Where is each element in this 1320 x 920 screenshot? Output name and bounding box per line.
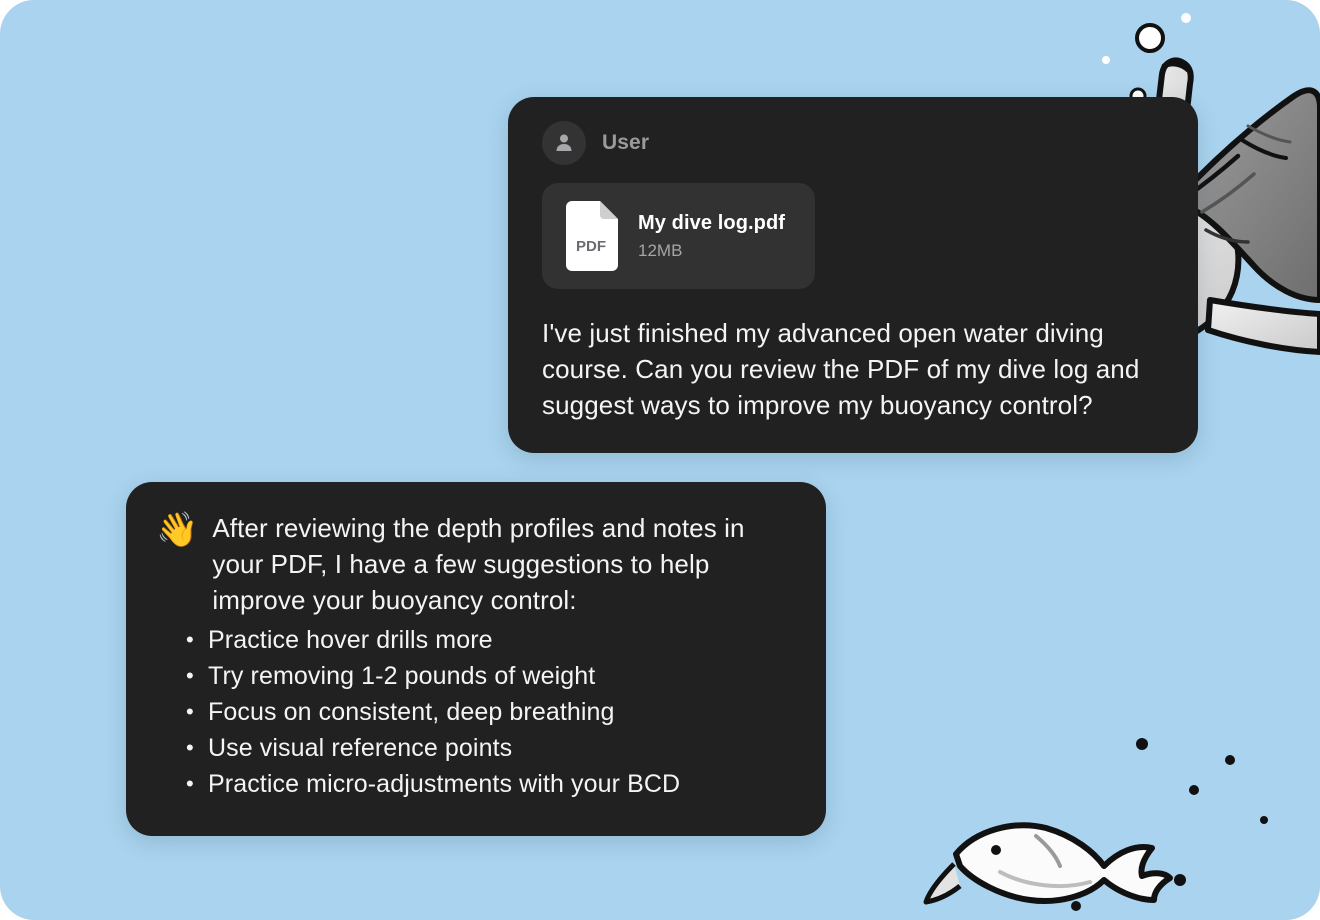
list-item: Use visual reference points — [208, 730, 794, 766]
user-message-bubble: User PDF My dive log.pdf 12MB I've just … — [508, 97, 1198, 453]
diver-right-arm — [1208, 300, 1320, 352]
waving-hand-icon: 👋 — [156, 512, 198, 548]
svg-text:PDF: PDF — [576, 238, 606, 255]
assistant-intro: 👋 After reviewing the depth profiles and… — [156, 510, 794, 618]
list-item: Practice micro-adjustments with your BCD — [208, 766, 794, 802]
attachment-card[interactable]: PDF My dive log.pdf 12MB — [542, 183, 815, 289]
message-author: User — [602, 131, 649, 155]
diver-wetsuit-shorts — [1180, 90, 1320, 300]
screen-root: User PDF My dive log.pdf 12MB I've just … — [0, 0, 1320, 920]
list-item: Try removing 1-2 pounds of weight — [208, 658, 794, 694]
list-item: Practice hover drills more — [208, 622, 794, 658]
person-icon — [552, 131, 576, 155]
user-message-text: I've just finished my advanced open wate… — [542, 315, 1164, 423]
file-meta: My dive log.pdf 12MB — [638, 212, 785, 261]
suggestion-list: Practice hover drills more Try removing … — [156, 622, 794, 802]
avatar — [542, 121, 586, 165]
assistant-intro-text: After reviewing the depth profiles and n… — [212, 510, 794, 618]
message-header: User — [542, 121, 1164, 165]
list-item: Focus on consistent, deep breathing — [208, 694, 794, 730]
fish — [926, 825, 1170, 902]
assistant-message-bubble: 👋 After reviewing the depth profiles and… — [126, 482, 826, 836]
file-name: My dive log.pdf — [638, 212, 785, 235]
file-size: 12MB — [638, 241, 785, 261]
pdf-file-icon: PDF — [562, 201, 618, 271]
